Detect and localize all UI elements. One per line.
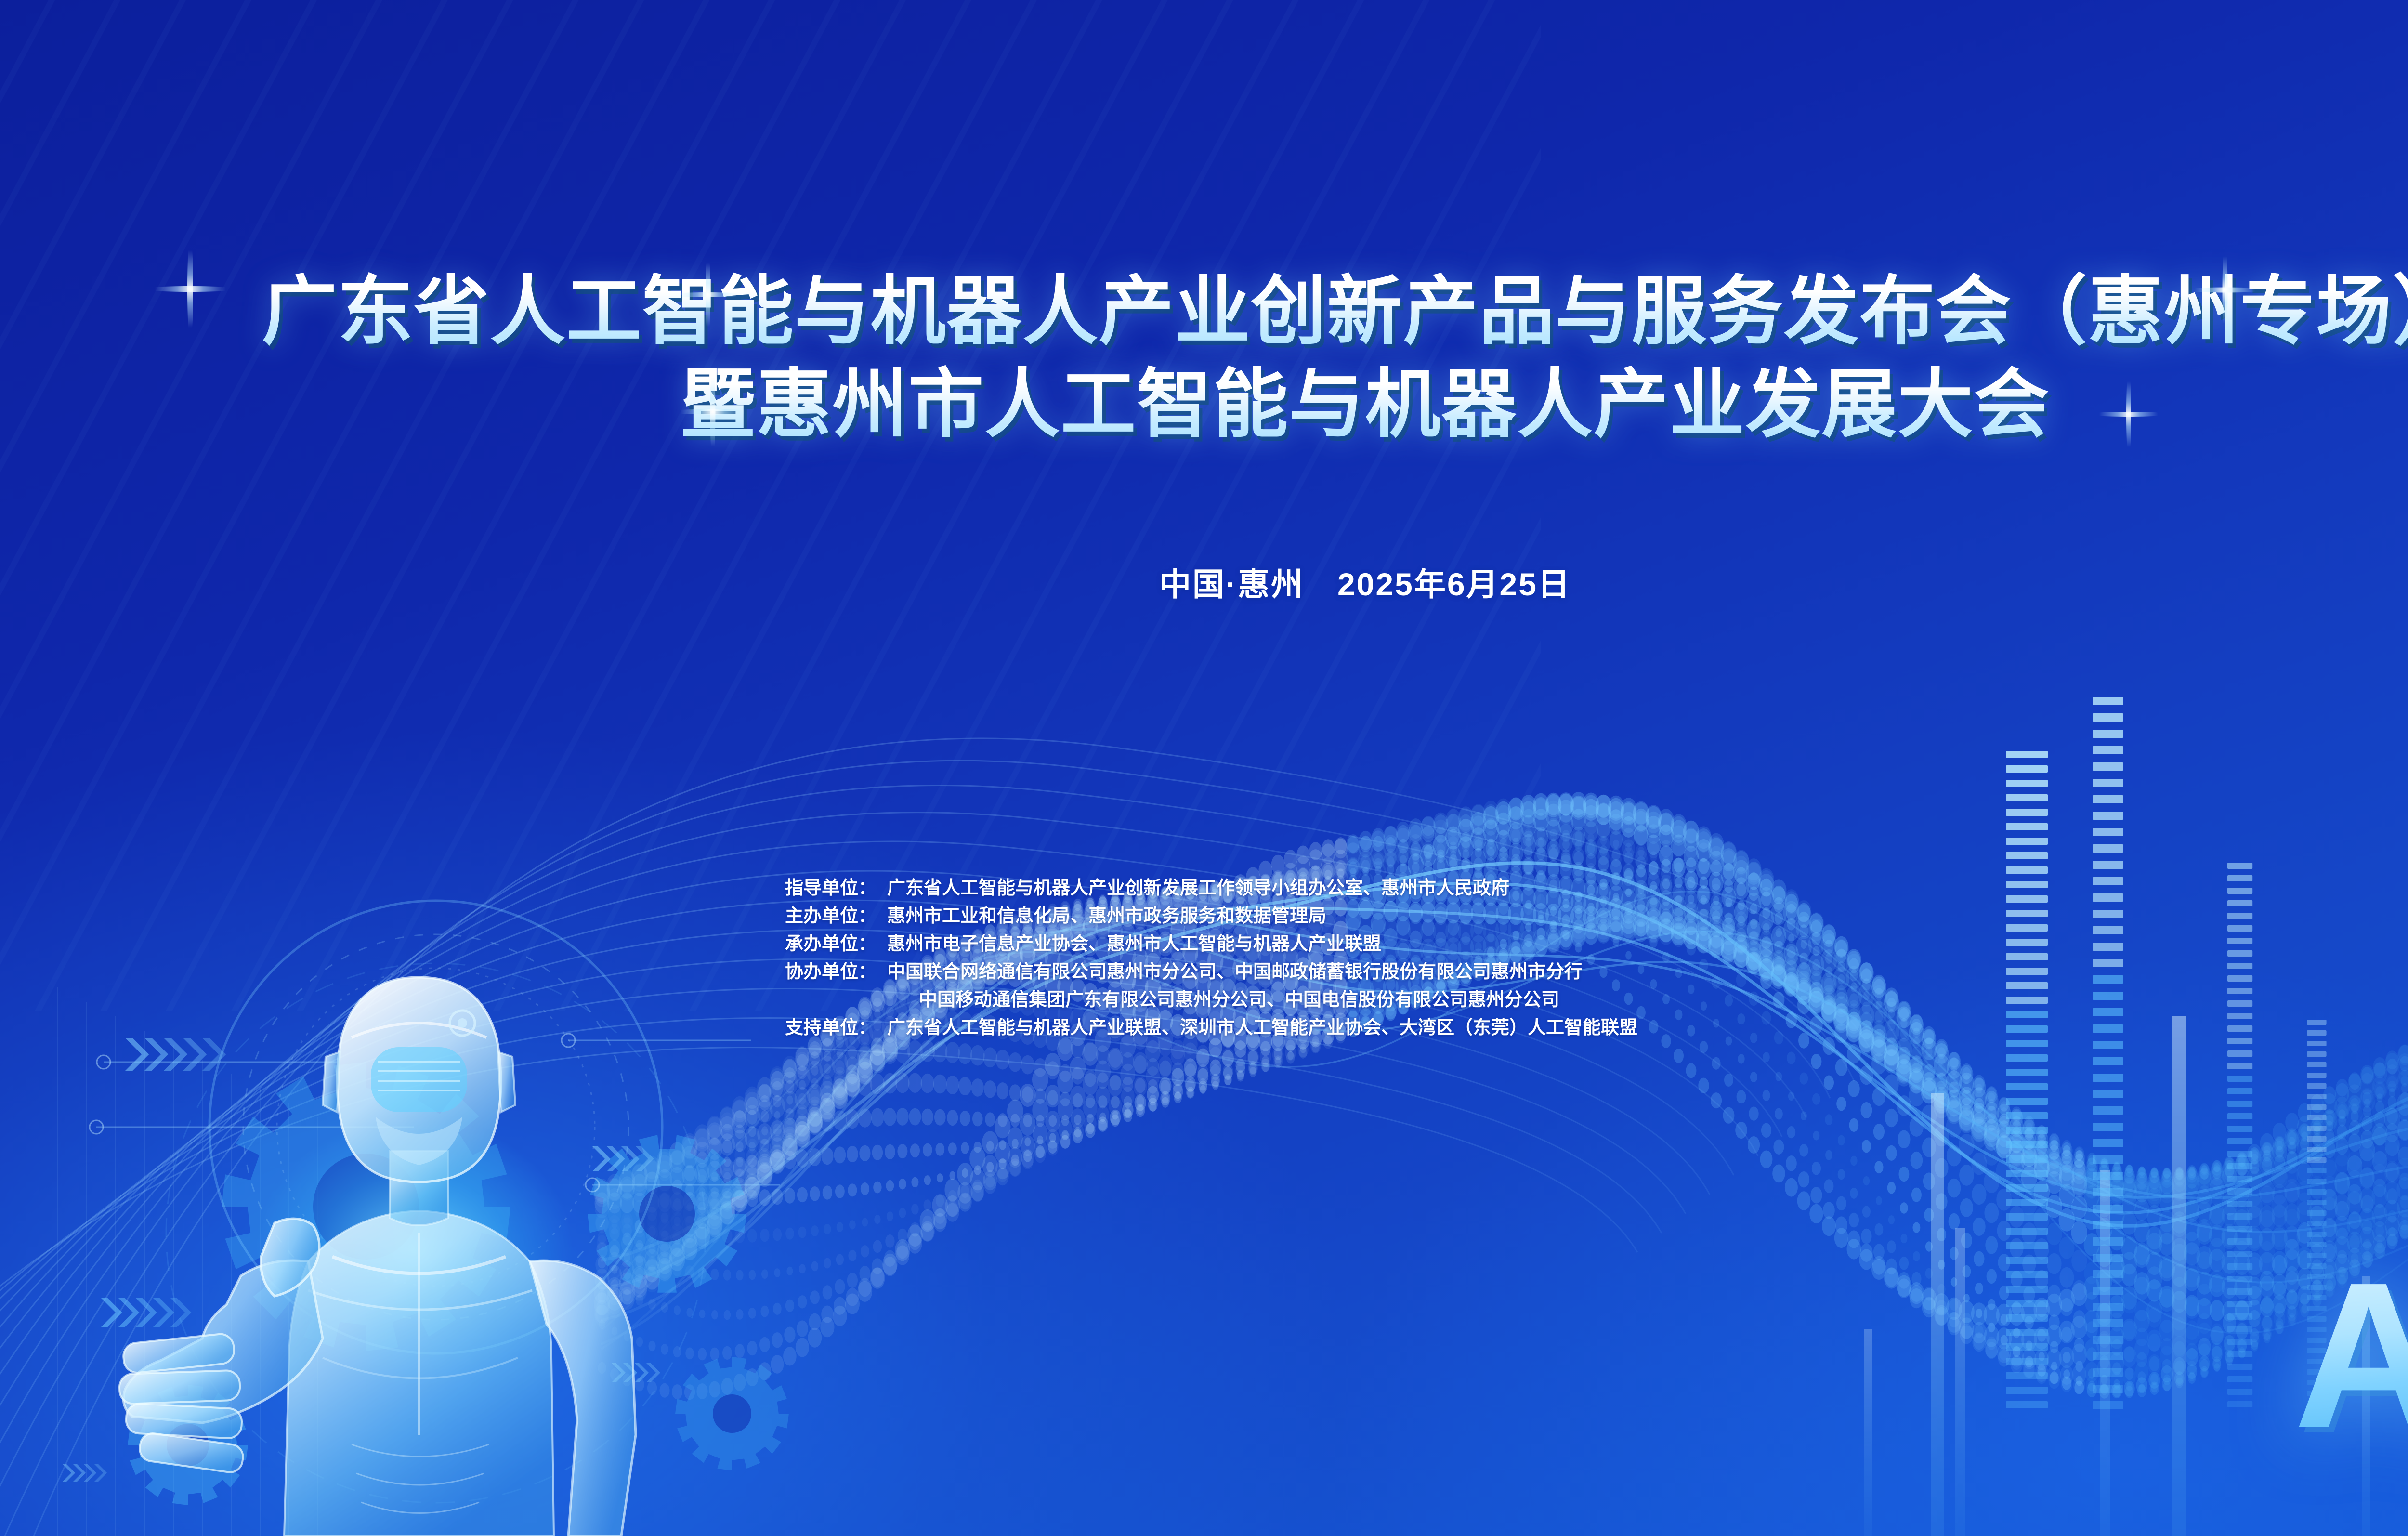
credit-value: 广东省人工智能与机器人产业联盟、深圳市人工智能产业协会、大湾区（东莞）人工智能联… xyxy=(887,1019,1637,1037)
credit-row: 支持单位：广东省人工智能与机器人产业联盟、深圳市人工智能产业协会、大湾区（东莞）… xyxy=(785,1019,2085,1037)
title-block: 广东省人工智能与机器人产业创新产品与服务发布会（惠州专场） 暨惠州市人工智能与机… xyxy=(0,270,2408,446)
credit-label: 指导单位： xyxy=(785,879,877,897)
background-sheen xyxy=(0,0,1541,1011)
page-title-line-2: 暨惠州市人工智能与机器人产业发展大会 xyxy=(0,363,2408,447)
ai-logo-text: AI xyxy=(2294,1252,2408,1459)
credit-row: 协办单位：中国联合网络通信有限公司惠州市分公司、中国邮政储蓄银行股份有限公司惠州… xyxy=(785,963,2085,981)
credit-value: 惠州市工业和信息化局、惠州市政务服务和数据管理局 xyxy=(887,907,1326,925)
credit-label: 承办单位： xyxy=(785,935,877,953)
poster-canvas: 广东省人工智能与机器人产业创新产品与服务发布会（惠州专场） 暨惠州市人工智能与机… xyxy=(0,0,2408,1536)
credit-label: 协办单位： xyxy=(785,963,877,981)
credit-row: 指导单位：广东省人工智能与机器人产业创新发展工作领导小组办公室、惠州市人民政府 xyxy=(785,879,2085,897)
credit-value: 惠州市电子信息产业协会、惠州市人工智能与机器人产业联盟 xyxy=(887,935,1381,953)
credit-value: 广东省人工智能与机器人产业创新发展工作领导小组办公室、惠州市人民政府 xyxy=(887,879,1509,897)
credit-continuation: 中国移动通信集团广东有限公司惠州分公司、中国电信股份有限公司惠州分公司 xyxy=(919,991,2085,1009)
credit-value: 中国联合网络通信有限公司惠州市分公司、中国邮政储蓄银行股份有限公司惠州市分行 xyxy=(887,963,1583,981)
credit-label: 主办单位： xyxy=(785,907,877,925)
credits-block: 指导单位：广东省人工智能与机器人产业创新发展工作领导小组办公室、惠州市人民政府主… xyxy=(785,879,2085,1047)
credit-label: 支持单位： xyxy=(785,1019,877,1037)
credit-row: 主办单位：惠州市工业和信息化局、惠州市政务服务和数据管理局 xyxy=(785,907,2085,925)
subtitle-date-location: 中国·惠州 2025年6月25日 xyxy=(0,559,2408,605)
robot-illustration xyxy=(82,924,689,1536)
credit-row: 承办单位：惠州市电子信息产业协会、惠州市人工智能与机器人产业联盟 xyxy=(785,935,2085,953)
page-title-line-1: 广东省人工智能与机器人产业创新产品与服务发布会（惠州专场） xyxy=(0,270,2408,354)
